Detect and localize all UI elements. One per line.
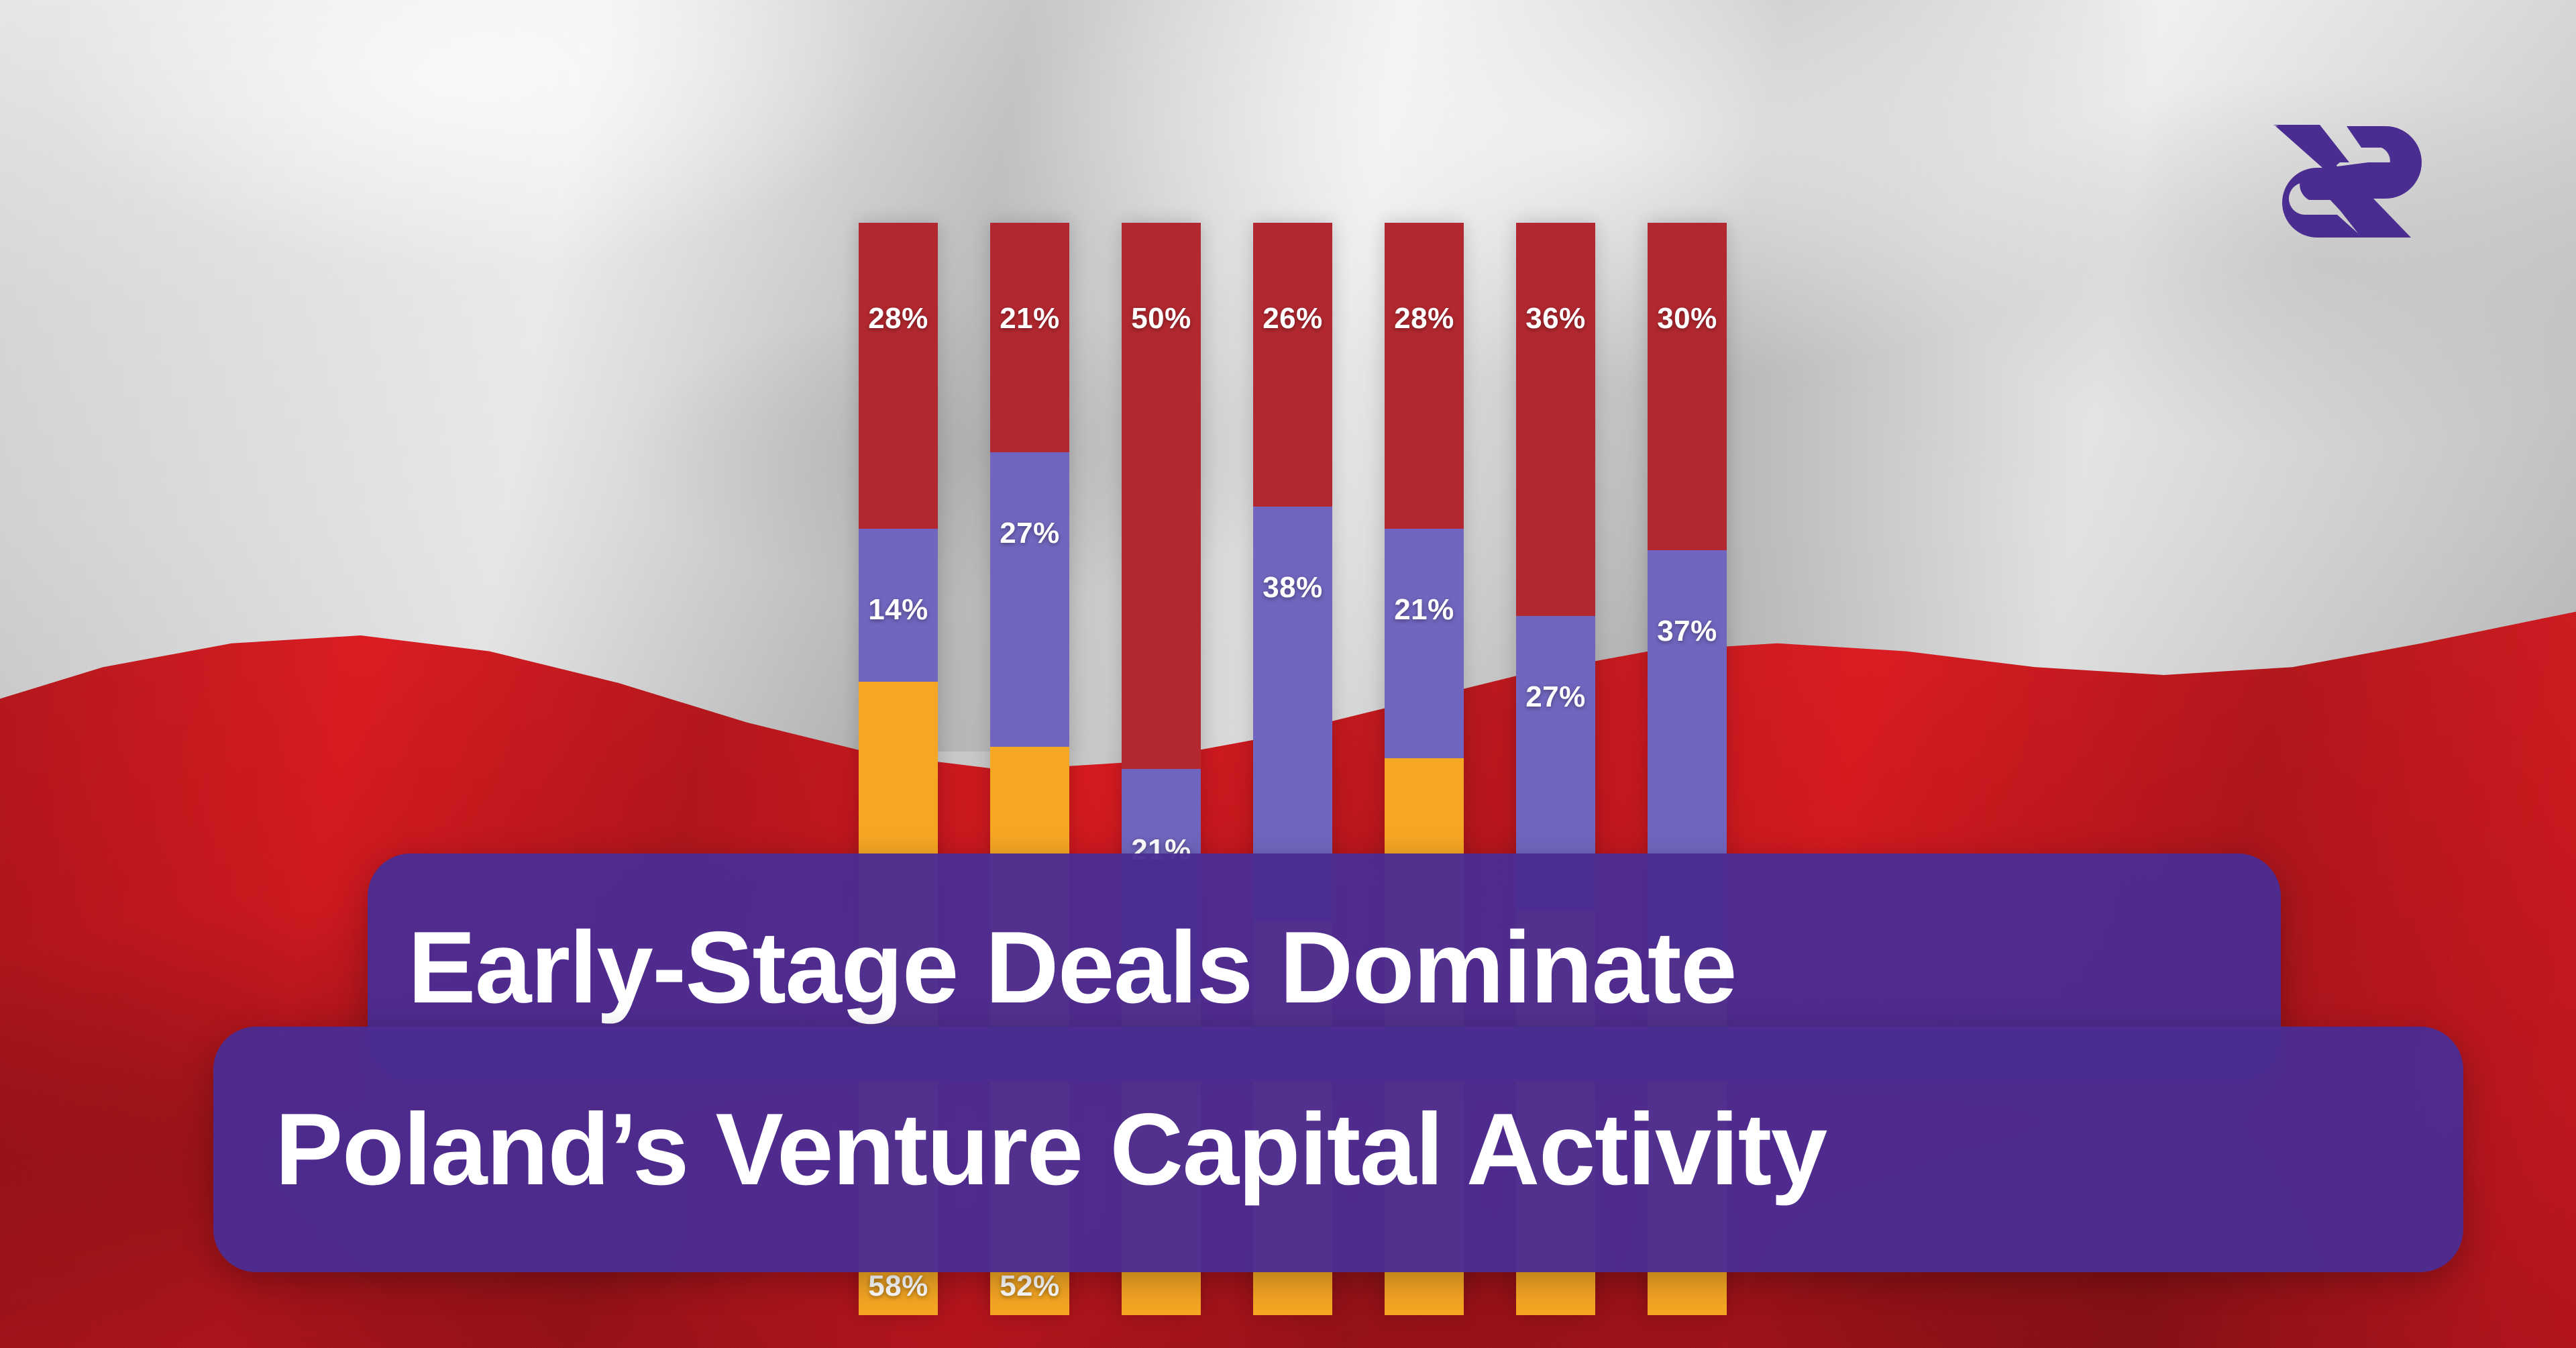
title-card-line2: Poland’s Venture Capital Activity [213, 1027, 2463, 1272]
bar-6-segment-late: 36% [1516, 223, 1595, 616]
bar-4-label-growth: 38% [1263, 571, 1323, 605]
bar-3-segment-late: 50% [1122, 223, 1201, 769]
bar-5-segment-late: 28% [1385, 223, 1464, 529]
bar-7-segment-late: 30% [1648, 223, 1727, 550]
bar-5-label-late: 28% [1394, 302, 1454, 335]
bar-1-segment-growth: 14% [859, 529, 938, 682]
bar-7-label-late: 30% [1657, 302, 1717, 335]
bar-5-label-growth: 21% [1394, 593, 1454, 627]
r-monogram-logo-icon [2267, 121, 2422, 242]
bar-6-label-late: 36% [1525, 302, 1586, 335]
bar-4-segment-late: 26% [1253, 223, 1332, 507]
page-title-line2: Poland’s Venture Capital Activity [275, 1098, 1827, 1200]
bar-6-label-growth: 27% [1525, 680, 1586, 714]
bar-1-segment-late: 28% [859, 223, 938, 529]
infographic-canvas: 28%14%58%21%27%52%50%21%26%38%28%21%36%2… [0, 0, 2576, 1348]
bar-4-label-late: 26% [1263, 302, 1323, 335]
bar-1-label-late: 28% [868, 302, 928, 335]
bar-3-label-late: 50% [1131, 302, 1191, 335]
bar-2-segment-late: 21% [990, 223, 1069, 452]
bar-5-segment-growth: 21% [1385, 529, 1464, 758]
bar-2-label-growth: 27% [1000, 517, 1060, 550]
bar-1-label-early: 58% [868, 1269, 928, 1303]
bar-7-label-growth: 37% [1657, 615, 1717, 648]
bar-2-label-early: 52% [1000, 1269, 1060, 1303]
page-title-line1: Early-Stage Deals Dominate [408, 917, 1736, 1019]
bar-1-label-growth: 14% [868, 593, 928, 627]
bar-2-label-late: 21% [1000, 302, 1060, 335]
bar-2-segment-growth: 27% [990, 452, 1069, 747]
